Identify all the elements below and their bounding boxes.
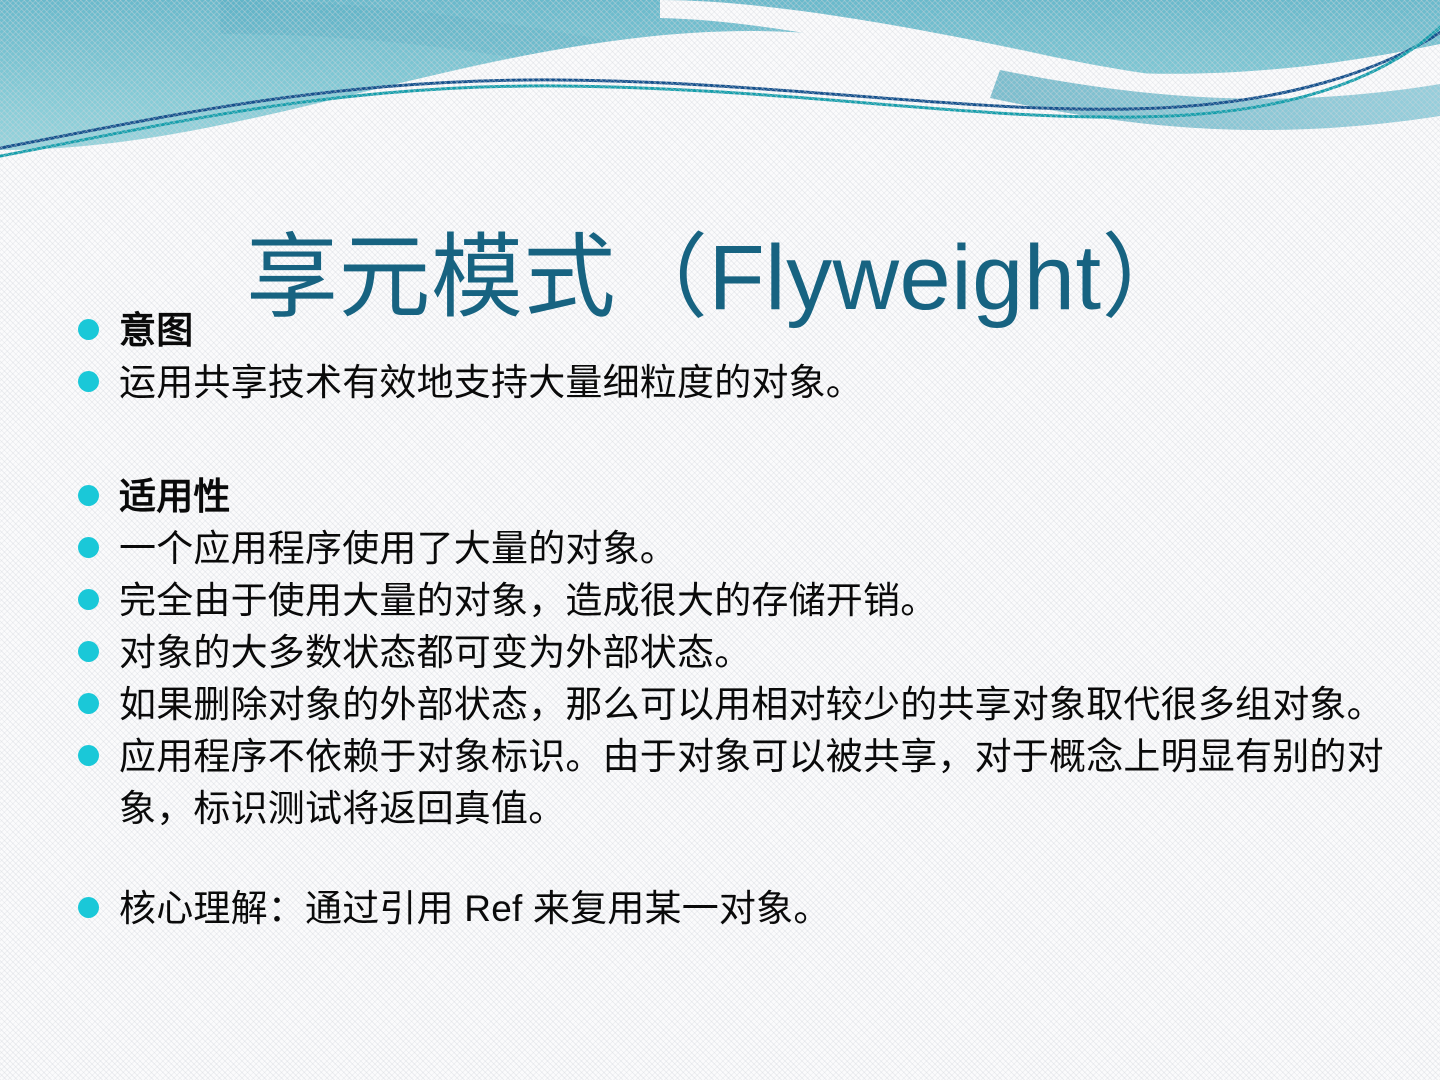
bullet-dot-icon: [78, 897, 99, 918]
block-spacer: [78, 835, 1408, 883]
header-swoosh-graphic: [0, 0, 1440, 185]
list-item-label: 核心理解：通过引用 Ref 来复用某一对象。: [119, 883, 1408, 935]
list-item[interactable]: 对象的大多数状态都可变为外部状态。: [78, 627, 1408, 679]
block-spacer: [78, 409, 1408, 471]
list-item-label: 运用共享技术有效地支持大量细粒度的对象。: [119, 357, 1408, 409]
list-item-label: 一个应用程序使用了大量的对象。: [119, 523, 1408, 575]
list-item[interactable]: 适用性: [78, 471, 1408, 523]
list-item-label: 应用程序不依赖于对象标识。由于对象可以被共享，对于概念上明显有别的对象，标识测试…: [119, 731, 1408, 835]
bullet-dot-icon: [78, 693, 99, 714]
list-item-label: 完全由于使用大量的对象，造成很大的存储开销。: [119, 575, 1408, 627]
bullet-dot-icon: [78, 485, 99, 506]
list-item-label: 适用性: [119, 471, 1408, 523]
list-item[interactable]: 如果删除对象的外部状态，那么可以用相对较少的共享对象取代很多组对象。: [78, 679, 1408, 731]
list-item-label: 如果删除对象的外部状态，那么可以用相对较少的共享对象取代很多组对象。: [119, 679, 1408, 731]
list-item[interactable]: 运用共享技术有效地支持大量细粒度的对象。: [78, 357, 1408, 409]
presentation-slide: 享元模式（Flyweight） 意图 运用共享技术有效地支持大量细粒度的对象。 …: [0, 0, 1440, 1080]
bullet-dot-icon: [78, 641, 99, 662]
content-block-core-understanding: 核心理解：通过引用 Ref 来复用某一对象。: [78, 883, 1408, 935]
slide-body: 意图 运用共享技术有效地支持大量细粒度的对象。 适用性 一个应用程序使用了大量的…: [78, 305, 1408, 935]
bullet-dot-icon: [78, 745, 99, 766]
list-item-label: 意图: [119, 305, 1408, 357]
list-item-label: 对象的大多数状态都可变为外部状态。: [119, 627, 1408, 679]
content-block-applicability: 适用性 一个应用程序使用了大量的对象。 完全由于使用大量的对象，造成很大的存储开…: [78, 471, 1408, 835]
bullet-dot-icon: [78, 537, 99, 558]
list-item[interactable]: 核心理解：通过引用 Ref 来复用某一对象。: [78, 883, 1408, 935]
bullet-dot-icon: [78, 371, 99, 392]
list-item[interactable]: 一个应用程序使用了大量的对象。: [78, 523, 1408, 575]
list-item[interactable]: 完全由于使用大量的对象，造成很大的存储开销。: [78, 575, 1408, 627]
list-item[interactable]: 应用程序不依赖于对象标识。由于对象可以被共享，对于概念上明显有别的对象，标识测试…: [78, 731, 1408, 835]
list-item[interactable]: 意图: [78, 305, 1408, 357]
bullet-dot-icon: [78, 319, 99, 340]
bullet-dot-icon: [78, 589, 99, 610]
content-block-intent: 意图 运用共享技术有效地支持大量细粒度的对象。: [78, 305, 1408, 409]
